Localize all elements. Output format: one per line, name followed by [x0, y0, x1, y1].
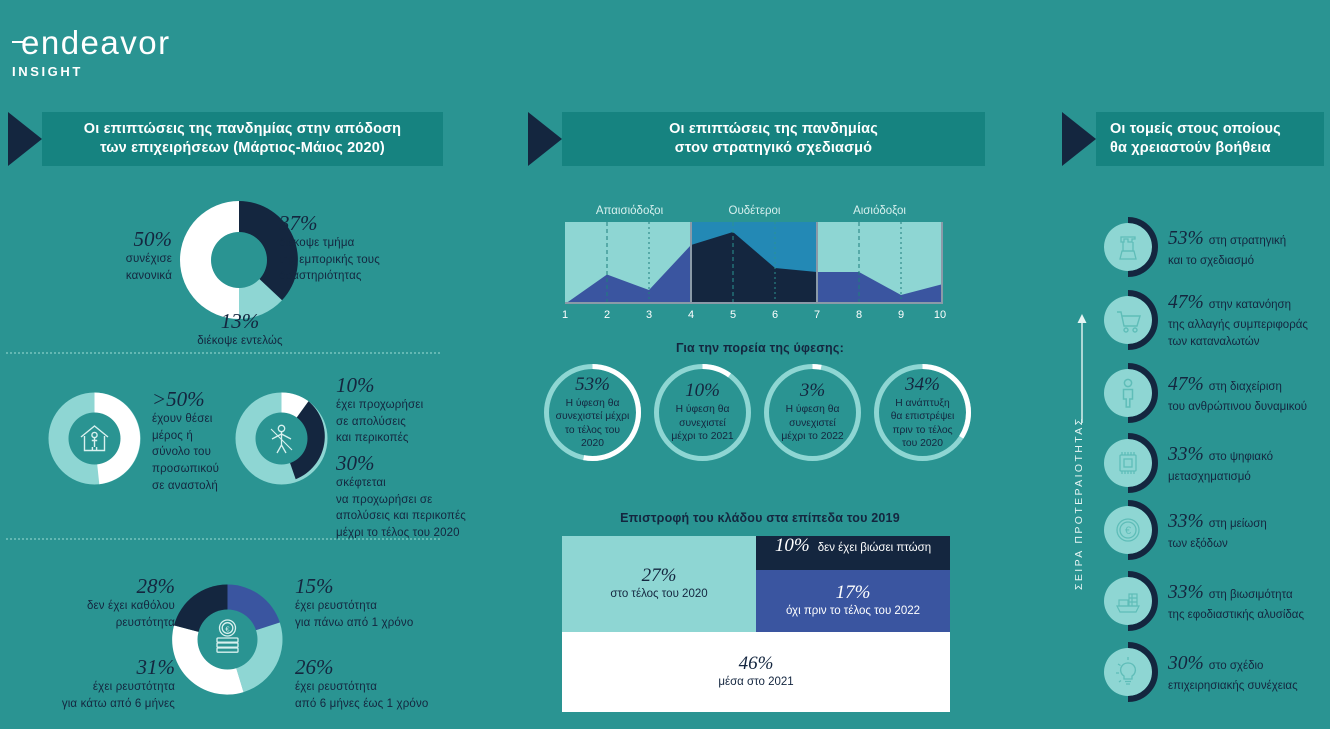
sector-line-strategy: 53%στη στρατηγική και το σχεδιασμό [1168, 225, 1286, 270]
liquidity-pct-26: 26% [295, 656, 480, 679]
axis-tick-7: 7 [807, 309, 827, 321]
sector-gauge [1098, 642, 1158, 702]
sector-gauge: € [1098, 500, 1158, 560]
sector-pct-33-a: 33% [1168, 444, 1204, 465]
axis-tick-2: 2 [597, 309, 617, 321]
sector-circle-bg [1104, 439, 1152, 487]
priority-arrow-svg [1075, 313, 1089, 423]
layoffs-label-10: 10% έχει προχωρήσει σε απολύσεις και περ… [336, 374, 486, 447]
liquidity-pct-15: 15% [295, 575, 465, 598]
sector-gauge [1098, 571, 1158, 631]
sector-text-supply: 33%στη βιωσιμότητα της εφοδιαστικής αλυσ… [1168, 579, 1304, 624]
layoffs-cap-30: σκέφτεται να προχωρήσει σε απολύσεις και… [336, 475, 496, 542]
axis-tick-10: 10 [930, 309, 950, 321]
logo-subtitle: INSIGHT [12, 64, 171, 79]
liquidity-label-28: 28% δεν έχει καθόλου ρευστότητα [25, 575, 175, 631]
banner-middle-title: Οι επιπτώσεις της πανδημίας στον στρατηγ… [669, 120, 878, 159]
recession-ring-53-text: 53% Η ύφεση θα συνεχιστεί μέχρι το τέλος… [542, 362, 643, 463]
recovery-cell-10: 10% δεν έχει βιώσει πτώση [756, 536, 950, 570]
axis-tick-1: 1 [555, 309, 575, 321]
banner-left: Οι επιπτώσεις της πανδημίας στην απόδοση… [8, 112, 443, 166]
sentiment-area-chart [565, 222, 943, 304]
recovery-pct-27: 27% [642, 566, 677, 587]
liquidity-label-31: 31% έχει ρευστότητα για κάτω από 6 μήνες [5, 656, 175, 712]
recovery-cap-17: όχι πριν το τέλος του 2022 [786, 604, 920, 619]
recovery-pct-17: 17% [836, 583, 871, 604]
recession-ring-3-text: 3% Η ύφεση θα συνεχιστεί μέχρι το 2022 [762, 362, 863, 463]
banner-arrow-icon [528, 112, 562, 166]
sector-text-hr: 47%στη διαχείριση του ανθρώπινου δυναμικ… [1168, 371, 1307, 416]
banner-right-title: Οι τομείς στους οποίους θα χρειαστούν βο… [1110, 120, 1281, 159]
donut-hole [198, 610, 258, 670]
layoffs-donut-svg [232, 389, 331, 488]
sector-item-continuity: 30%στο σχέδιο επιχειρησιακής συνέχειας [1098, 641, 1330, 703]
zone-label-pessimist: Απαισιόδοξοι [567, 205, 692, 217]
priority-arrow-icon [1075, 313, 1089, 423]
zone-label-optimist: Αισιόδοξοι [817, 205, 942, 217]
sector-text-strategy: 53%στη στρατηγική και το σχεδιασμό [1168, 225, 1286, 270]
banner-middle: Οι επιπτώσεις της πανδημίας στον στρατηγ… [528, 112, 985, 166]
operations-pct-50: 50% [62, 228, 172, 251]
recovery-cap-10: δεν έχει βιώσει πτώση [818, 541, 931, 556]
banner-left-body: Οι επιπτώσεις της πανδημίας στην απόδοση… [42, 112, 443, 166]
layoffs-pct-30: 30% [336, 452, 496, 475]
liquidity-label-26: 26% έχει ρευστότητα από 6 μήνες έως 1 χρ… [295, 656, 480, 712]
recovery-pct-10: 10% [775, 536, 810, 557]
sector-line-consumer: 47%στην κατανόηση της αλλαγής συμπεριφορ… [1168, 289, 1308, 351]
recession-ring-34: 34% Η ανάπτυξη θα επιστρέψει πριν το τέλ… [872, 362, 973, 463]
liquidity-cap-26: έχει ρευστότητα από 6 μήνες έως 1 χρόνο [295, 679, 480, 712]
sector-text-digital: 33%στο ψηφιακό μετασχηματισμό [1168, 441, 1273, 486]
sector-line-digital: 33%στο ψηφιακό μετασχηματισμό [1168, 441, 1273, 486]
layoffs-donut [232, 389, 331, 488]
banner-arrow-icon [8, 112, 42, 166]
sector-pct-47-a: 47% [1168, 292, 1204, 313]
recession-cap-53: Η ύφεση θα συνεχιστεί μέχρι το τέλος του… [547, 397, 639, 451]
liquidity-pct-28: 28% [25, 575, 175, 598]
liquidity-pct-31: 31% [5, 656, 175, 679]
sector-item-supply: 33%στη βιωσιμότητα της εφοδιαστικής αλυσ… [1098, 570, 1330, 632]
operations-pct-37: 37% [279, 212, 444, 235]
axis-tick-3: 3 [639, 309, 659, 321]
operations-cap-13: διέκοψε εντελώς [170, 333, 310, 350]
layoffs-label-30: 30% σκέφτεται να προχωρήσει σε απολύσεις… [336, 452, 496, 542]
sector-gauge [1098, 217, 1158, 277]
operations-cap-37: διέκοψε τμήμα της εμπορικής τους δραστηρ… [279, 235, 444, 285]
recovery-cell-17: 17% όχι πριν το τέλος του 2022 [756, 570, 950, 632]
logo-wordmark-text: endeavor [21, 24, 171, 61]
zone-label-neutral: Ουδέτεροι [692, 205, 817, 217]
svg-text:€: € [1125, 525, 1131, 537]
infographic-page: endeavor INSIGHT Οι επιπτώσεις της πανδη… [0, 0, 1330, 729]
layoffs-cap-10: έχει προχωρήσει σε απολύσεις και περικοπ… [336, 397, 486, 447]
operations-pct-13: 13% [170, 310, 310, 333]
sector-line-supply: 33%στη βιωσιμότητα της εφοδιαστικής αλυσ… [1168, 579, 1304, 624]
divider-2 [6, 538, 440, 540]
layoffs-pct-10: 10% [336, 374, 486, 397]
sector-line-continuity: 30%στο σχέδιο επιχειρησιακής συνέχειας [1168, 650, 1298, 695]
sector-text-costs: 33%στη μείωση των εξόδων [1168, 508, 1267, 553]
sector-pct-33-b: 33% [1168, 511, 1204, 532]
recession-pct-53: 53% [575, 375, 610, 394]
sector-item-hr: 47%στη διαχείριση του ανθρώπινου δυναμικ… [1098, 362, 1330, 424]
sector-text-consumer: 47%στην κατανόηση της αλλαγής συμπεριφορ… [1168, 289, 1308, 351]
sector-gauge [1098, 363, 1158, 423]
divider-1 [6, 352, 440, 354]
furlough-donut-svg [45, 389, 144, 488]
recession-ring-34-text: 34% Η ανάπτυξη θα επιστρέψει πριν το τέλ… [872, 362, 973, 463]
recovery-pct-46: 46% [739, 654, 774, 675]
recession-subtitle: Για την πορεία της ύφεσης: [530, 341, 990, 355]
furlough-donut [45, 389, 144, 488]
recovery-cell-46: 46% μέσα στο 2021 [562, 632, 950, 712]
sector-gauge [1098, 433, 1158, 493]
sentiment-area-chart-svg [565, 222, 943, 304]
axis-tick-8: 8 [849, 309, 869, 321]
recovery-treemap: 27% στο τέλος του 2020 10% δεν έχει βιώσ… [562, 536, 950, 712]
recession-ring-53: 53% Η ύφεση θα συνεχιστεί μέχρι το τέλος… [542, 362, 643, 463]
sector-circle-bg [1104, 223, 1152, 271]
sector-item-costs: € 33%στη μείωση των εξόδων [1098, 499, 1330, 561]
sector-pct-33-c: 33% [1168, 582, 1204, 603]
operations-label-13: 13% διέκοψε εντελώς [170, 310, 310, 350]
banner-middle-body: Οι επιπτώσεις της πανδημίας στον στρατηγ… [562, 112, 985, 166]
banner-left-title: Οι επιπτώσεις της πανδημίας στην απόδοση… [84, 120, 401, 159]
axis-tick-9: 9 [891, 309, 911, 321]
recession-cap-34: Η ανάπτυξη θα επιστρέψει πριν το τέλος τ… [882, 397, 964, 451]
sector-circle-bg [1104, 369, 1152, 417]
recession-cap-10: Η ύφεση θα συνεχιστεί μέχρι το 2021 [662, 403, 742, 443]
donut-hole [211, 232, 267, 288]
sector-pct-30: 30% [1168, 653, 1204, 674]
recovery-cell-27: 27% στο τέλος του 2020 [562, 536, 756, 632]
liquidity-donut-svg: € [169, 581, 286, 698]
sector-pct-53: 53% [1168, 228, 1204, 249]
recovery-cap-46: μέσα στο 2021 [718, 675, 793, 690]
axis-tick-4: 4 [681, 309, 701, 321]
sector-pct-47-b: 47% [1168, 374, 1204, 395]
liquidity-donut: € [169, 581, 286, 698]
axis-tick-6: 6 [765, 309, 785, 321]
axis-tick-5: 5 [723, 309, 743, 321]
sector-line-hr: 47%στη διαχείριση του ανθρώπινου δυναμικ… [1168, 371, 1307, 416]
priority-axis-label: ΣΕΙΡΑ ΠΡΟΤΕΡΑΙΟΤΗΤΑΣ [1073, 430, 1085, 590]
sector-item-consumer: 47%στην κατανόηση της αλλαγής συμπεριφορ… [1098, 289, 1330, 351]
recession-cap-3: Η ύφεση θα συνεχιστεί μέχρι το 2022 [772, 403, 852, 443]
operations-cap-50: συνέχισε κανονικά [62, 251, 172, 284]
recession-ring-3: 3% Η ύφεση θα συνεχιστεί μέχρι το 2022 [762, 362, 863, 463]
operations-label-50: 50% συνέχισε κανονικά [62, 228, 172, 284]
sector-text-continuity: 30%στο σχέδιο επιχειρησιακής συνέχειας [1168, 650, 1298, 695]
sector-circle-bg [1104, 648, 1152, 696]
recession-ring-10: 10% Η ύφεση θα συνεχιστεί μέχρι το 2021 [652, 362, 753, 463]
brand-logo: endeavor INSIGHT [12, 26, 171, 79]
sector-item-digital: 33%στο ψηφιακό μετασχηματισμό [1098, 432, 1330, 494]
recession-pct-10: 10% [685, 381, 720, 400]
liquidity-cap-28: δεν έχει καθόλου ρευστότητα [25, 598, 175, 631]
banner-right: Οι τομείς στους οποίους θα χρειαστούν βο… [1062, 112, 1324, 166]
recovery-cap-27: στο τέλος του 2020 [610, 587, 707, 602]
recovery-title: Επιστροφή του κλάδου στα επίπεδα του 201… [540, 511, 980, 525]
euro-coin-icon: € [1117, 519, 1139, 541]
logo-wordmark: endeavor [12, 26, 171, 59]
sector-line-costs: 33%στη μείωση των εξόδων [1168, 508, 1267, 553]
recession-pct-34: 34% [905, 375, 940, 394]
sector-item-strategy: 53%στη στρατηγική και το σχεδιασμό [1098, 216, 1328, 278]
banner-right-body: Οι τομείς στους οποίους θα χρειαστούν βο… [1096, 112, 1324, 166]
recession-ring-10-text: 10% Η ύφεση θα συνεχιστεί μέχρι το 2021 [652, 362, 753, 463]
liquidity-cap-15: έχει ρευστότητα για πάνω από 1 χρόνο [295, 598, 465, 631]
sector-circle-bg [1104, 296, 1152, 344]
recession-pct-3: 3% [800, 381, 825, 400]
liquidity-label-15: 15% έχει ρευστότητα για πάνω από 1 χρόνο [295, 575, 465, 631]
banner-arrow-icon [1062, 112, 1096, 166]
liquidity-cap-31: έχει ρευστότητα για κάτω από 6 μήνες [5, 679, 175, 712]
operations-label-37: 37% διέκοψε τμήμα της εμπορικής τους δρα… [279, 212, 444, 285]
sector-gauge [1098, 290, 1158, 350]
